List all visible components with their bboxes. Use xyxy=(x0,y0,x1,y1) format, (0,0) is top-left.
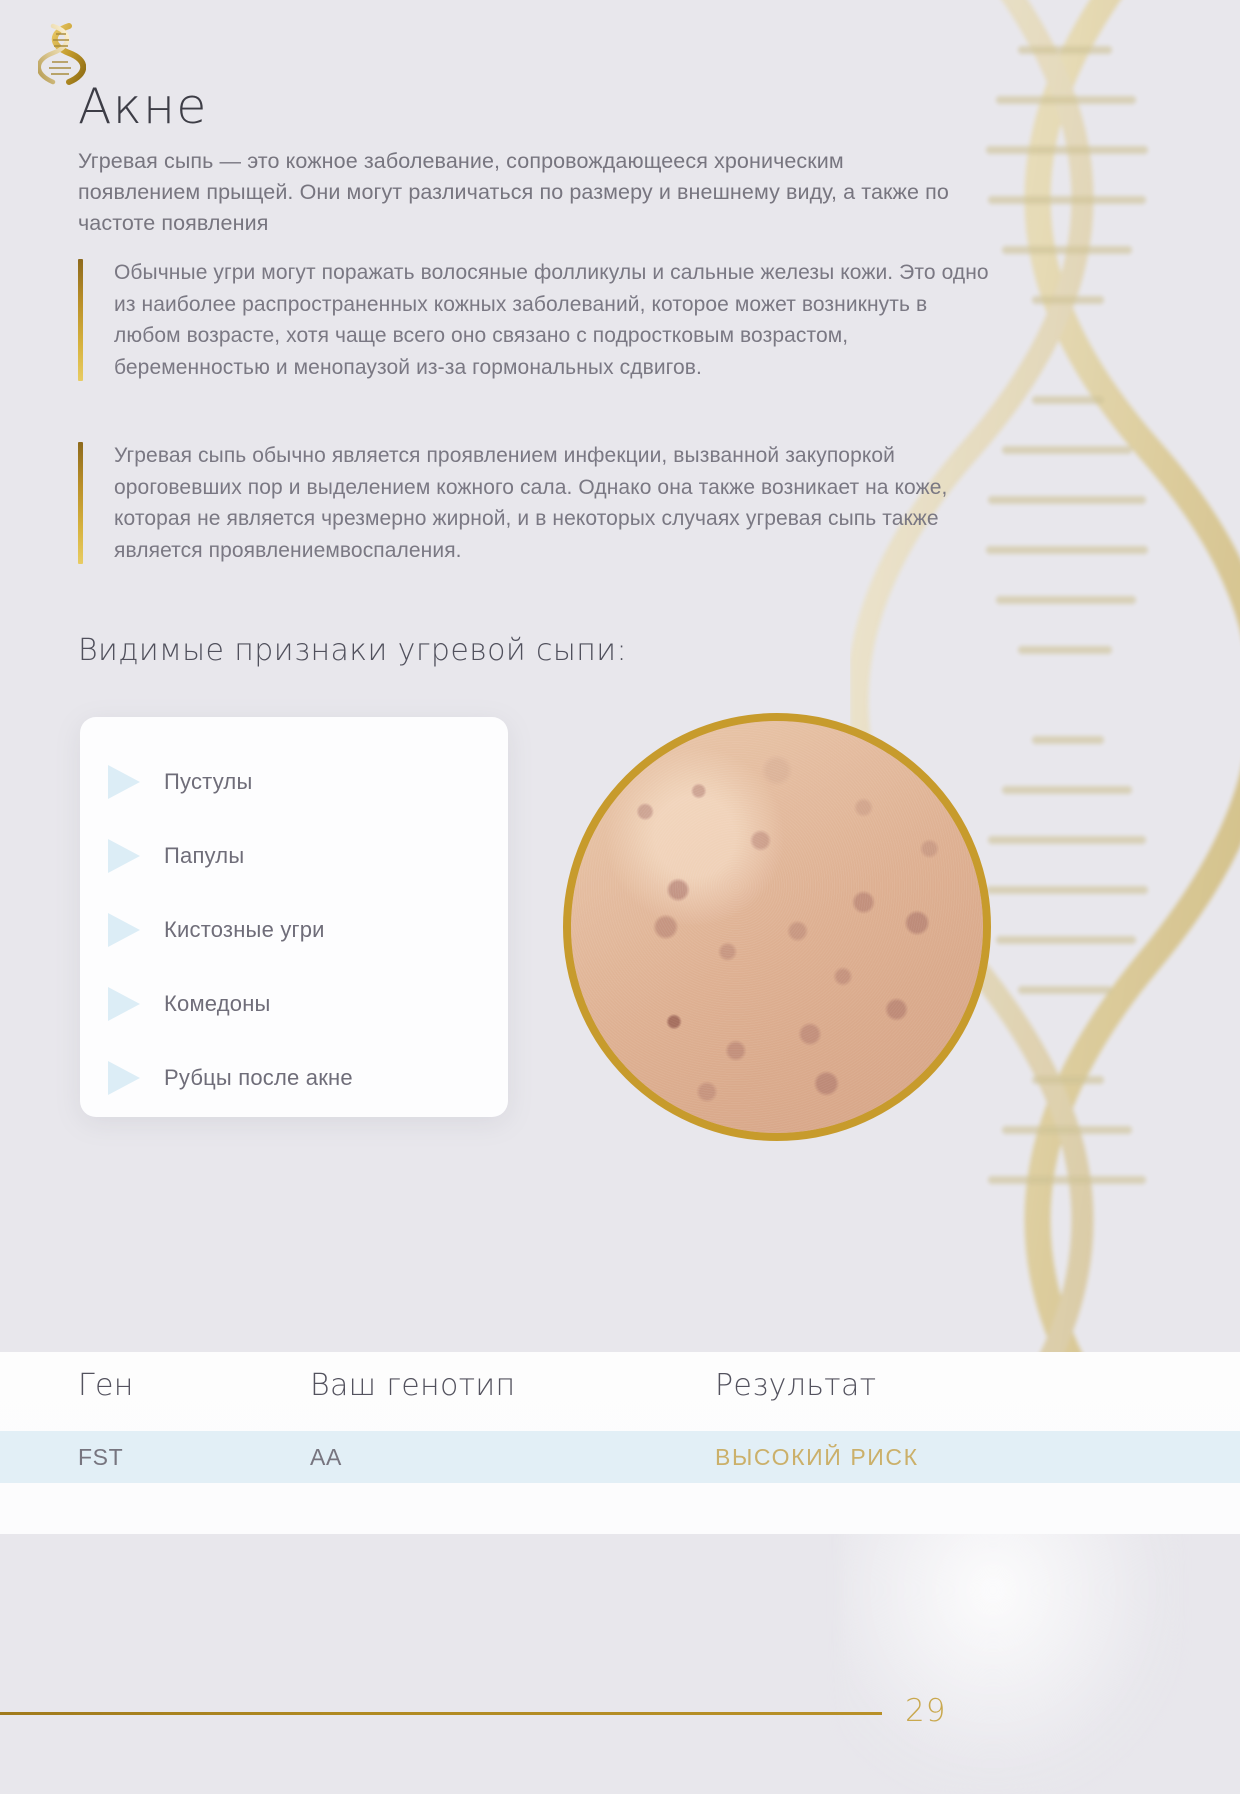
list-item-label: Кистозные угри xyxy=(164,917,325,943)
symptoms-heading: Видимые признаки угревой сыпи: xyxy=(78,633,627,668)
list-item-label: Пустулы xyxy=(164,769,252,795)
symptoms-list: Пустулы Папулы Кистозные угри Комедоны Р… xyxy=(80,745,508,1115)
list-item: Папулы xyxy=(80,819,508,893)
status-badge: ВЫСОКИЙ РИСК xyxy=(715,1444,1240,1471)
triangle-bullet-icon xyxy=(108,839,140,873)
page-footer: 29 xyxy=(0,1693,1240,1733)
list-item-label: Рубцы после акне xyxy=(164,1065,353,1091)
quote-text: Угревая сыпь обычно является проявлением… xyxy=(114,440,994,566)
symptoms-card: Пустулы Папулы Кистозные угри Комедоны Р… xyxy=(80,717,508,1117)
quote-accent-bar xyxy=(78,442,83,564)
triangle-bullet-icon xyxy=(108,913,140,947)
page-title: Акне xyxy=(78,78,208,135)
skin-texture xyxy=(571,721,983,1133)
list-item: Комедоны xyxy=(80,967,508,1041)
cell-genotype: AA xyxy=(310,1444,715,1471)
triangle-bullet-icon xyxy=(108,765,140,799)
list-item-label: Комедоны xyxy=(164,991,271,1017)
column-header-result: Результат xyxy=(715,1368,1240,1403)
quote-block-2: Угревая сыпь обычно является проявлением… xyxy=(78,440,994,566)
intro-paragraph: Угревая сыпь — это кожное заболевание, с… xyxy=(78,146,968,239)
column-header-genotype: Ваш генотип xyxy=(310,1368,715,1403)
quote-accent-bar xyxy=(78,259,83,381)
list-item: Кистозные угри xyxy=(80,893,508,967)
report-page: Акне Угревая сыпь — это кожное заболеван… xyxy=(0,0,1240,1754)
table-header-row: Ген Ваш генотип Результат xyxy=(0,1352,1240,1418)
list-item-label: Папулы xyxy=(164,843,244,869)
list-item: Рубцы после акне xyxy=(80,1041,508,1115)
triangle-bullet-icon xyxy=(108,987,140,1021)
column-header-gene: Ген xyxy=(0,1368,310,1403)
triangle-bullet-icon xyxy=(108,1061,140,1095)
table-row: FST AA ВЫСОКИЙ РИСК xyxy=(0,1431,1240,1483)
skin-closeup-photo xyxy=(563,713,991,1141)
list-item: Пустулы xyxy=(80,745,508,819)
page-number: 29 xyxy=(905,1693,946,1729)
quote-text: Обычные угри могут поражать волосяные фо… xyxy=(114,257,994,383)
cell-gene: FST xyxy=(0,1444,310,1471)
quote-block-1: Обычные угри могут поражать волосяные фо… xyxy=(78,257,994,383)
footer-divider xyxy=(0,1712,882,1715)
